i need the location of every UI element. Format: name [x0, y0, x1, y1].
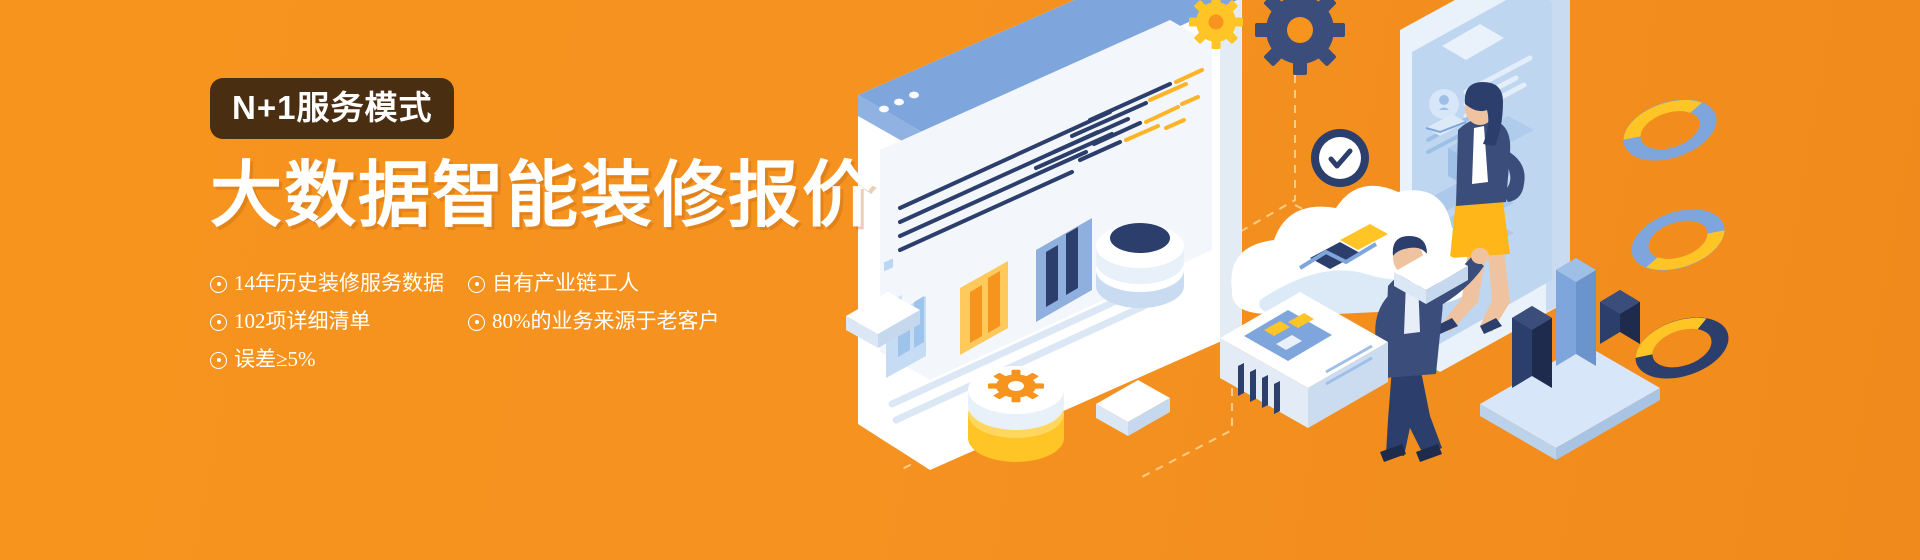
- banner-copy: N+1服务模式 大数据智能装修报价 14年历史装修服务数据 自有产业链工人 10…: [210, 78, 910, 379]
- gear-yellow-bottom: [968, 366, 1064, 462]
- list-item: 误差≥5%: [210, 347, 468, 372]
- circle-dot-icon: [210, 276, 227, 293]
- isometric-illustration: [840, 0, 1920, 560]
- service-model-badge: N+1服务模式: [210, 78, 454, 139]
- circle-dot-icon: [468, 276, 485, 293]
- promo-banner: N+1服务模式 大数据智能装修报价 14年历史装修服务数据 自有产业链工人 10…: [0, 0, 1920, 560]
- donut-chart-ring-3: [1644, 316, 1720, 379]
- list-item-label: 14年历史装修服务数据: [234, 271, 444, 296]
- circle-dot-icon: [210, 314, 227, 331]
- list-item-label: 误差≥5%: [234, 347, 316, 372]
- circle-dot-icon: [468, 314, 485, 331]
- checkmark-badge: [1311, 129, 1369, 187]
- list-item-label: 自有产业链工人: [492, 271, 639, 296]
- list-item: 14年历史装修服务数据: [210, 271, 468, 296]
- donut-chart-ring-1: [1632, 98, 1708, 161]
- list-item: 102项详细清单: [210, 309, 468, 334]
- list-item: 自有产业链工人: [468, 271, 910, 296]
- gear-large-dark: [1255, 0, 1345, 75]
- circle-dot-icon: [210, 352, 227, 369]
- stacked-disks: [1096, 223, 1184, 308]
- feature-bullet-list: 14年历史装修服务数据 自有产业链工人 102项详细清单 80%的业务来源于老客…: [210, 265, 910, 379]
- list-item-label: 80%的业务来源于老客户: [492, 309, 720, 334]
- list-item-label: 102项详细清单: [234, 309, 371, 334]
- donut-chart-ring-2: [1640, 208, 1716, 271]
- list-item: 80%的业务来源于老客户: [468, 309, 910, 334]
- banner-headline: 大数据智能装修报价: [210, 160, 910, 232]
